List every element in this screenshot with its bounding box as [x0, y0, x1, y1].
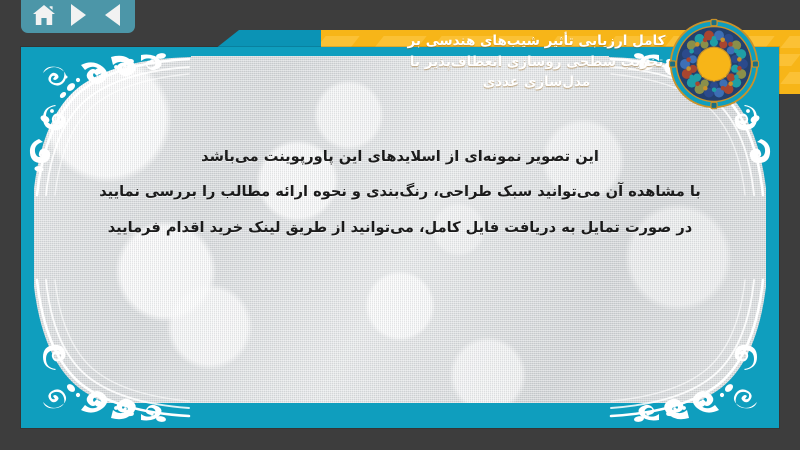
- medallion-accent-dot: [734, 49, 739, 54]
- home-icon: [32, 4, 56, 26]
- triangle-right-icon: [71, 4, 86, 26]
- medallion-accent-dot: [712, 87, 717, 92]
- medallion-accent-dot: [703, 86, 708, 91]
- body-line-1: این تصویر نمونه‌ای از اسلایدهای این پاور…: [45, 139, 755, 174]
- medallion-accent-dot: [689, 49, 694, 54]
- medallion-accent-dot: [695, 42, 700, 47]
- medallion-accent-dot: [686, 66, 691, 71]
- medallion-accent-dot: [737, 57, 742, 62]
- persian-medallion-ornament-icon: [668, 18, 760, 110]
- medallion-petal: [727, 46, 735, 54]
- body-line-3: در صورت تمایل به دریافت فایل کامل، می‌تو…: [45, 210, 755, 245]
- previous-slide-button[interactable]: [97, 2, 127, 28]
- medallion-petal: [727, 73, 735, 81]
- next-slide-button[interactable]: [63, 2, 93, 28]
- medallion-accent-dot: [737, 66, 742, 71]
- medallion-accent-dot: [728, 81, 733, 86]
- slide-body-text: این تصویر نمونه‌ای از اسلایدهای این پاور…: [45, 139, 755, 245]
- medallion-accent-dot: [712, 36, 717, 41]
- title-line-1: کامل ارزیابی تأثیر شیب‌های هندسی بر: [408, 31, 666, 52]
- medallion-accent-dot: [689, 75, 694, 80]
- medallion-petal: [693, 47, 701, 55]
- triangle-left-icon: [105, 4, 120, 26]
- home-button[interactable]: [29, 2, 59, 28]
- title-line-2: تخریب سطحی روسازی انعطاف‌پذیر با: [410, 52, 664, 73]
- medallion-accent-dot: [686, 57, 691, 62]
- navigation-bar: [21, 0, 135, 33]
- title-line-3: مدل‌سازی عددی: [483, 72, 590, 93]
- medallion-accent-dot: [695, 82, 700, 87]
- medallion-petal: [693, 74, 701, 82]
- slide-viewer: کامل ارزیابی تأثیر شیب‌های هندسی بر تخری…: [0, 0, 800, 450]
- medallion-accent-dot: [734, 74, 739, 79]
- medallion-accent-dot: [728, 42, 733, 47]
- medallion-accent-dot: [720, 37, 725, 42]
- slide-canvas: این تصویر نمونه‌ای از اسلایدهای این پاور…: [21, 47, 779, 428]
- medallion-accent-dot: [703, 38, 708, 43]
- medallion-accent-dot: [721, 86, 726, 91]
- body-line-2: با مشاهده آن می‌توانید سبک طراحی، رنگ‌بن…: [45, 174, 755, 209]
